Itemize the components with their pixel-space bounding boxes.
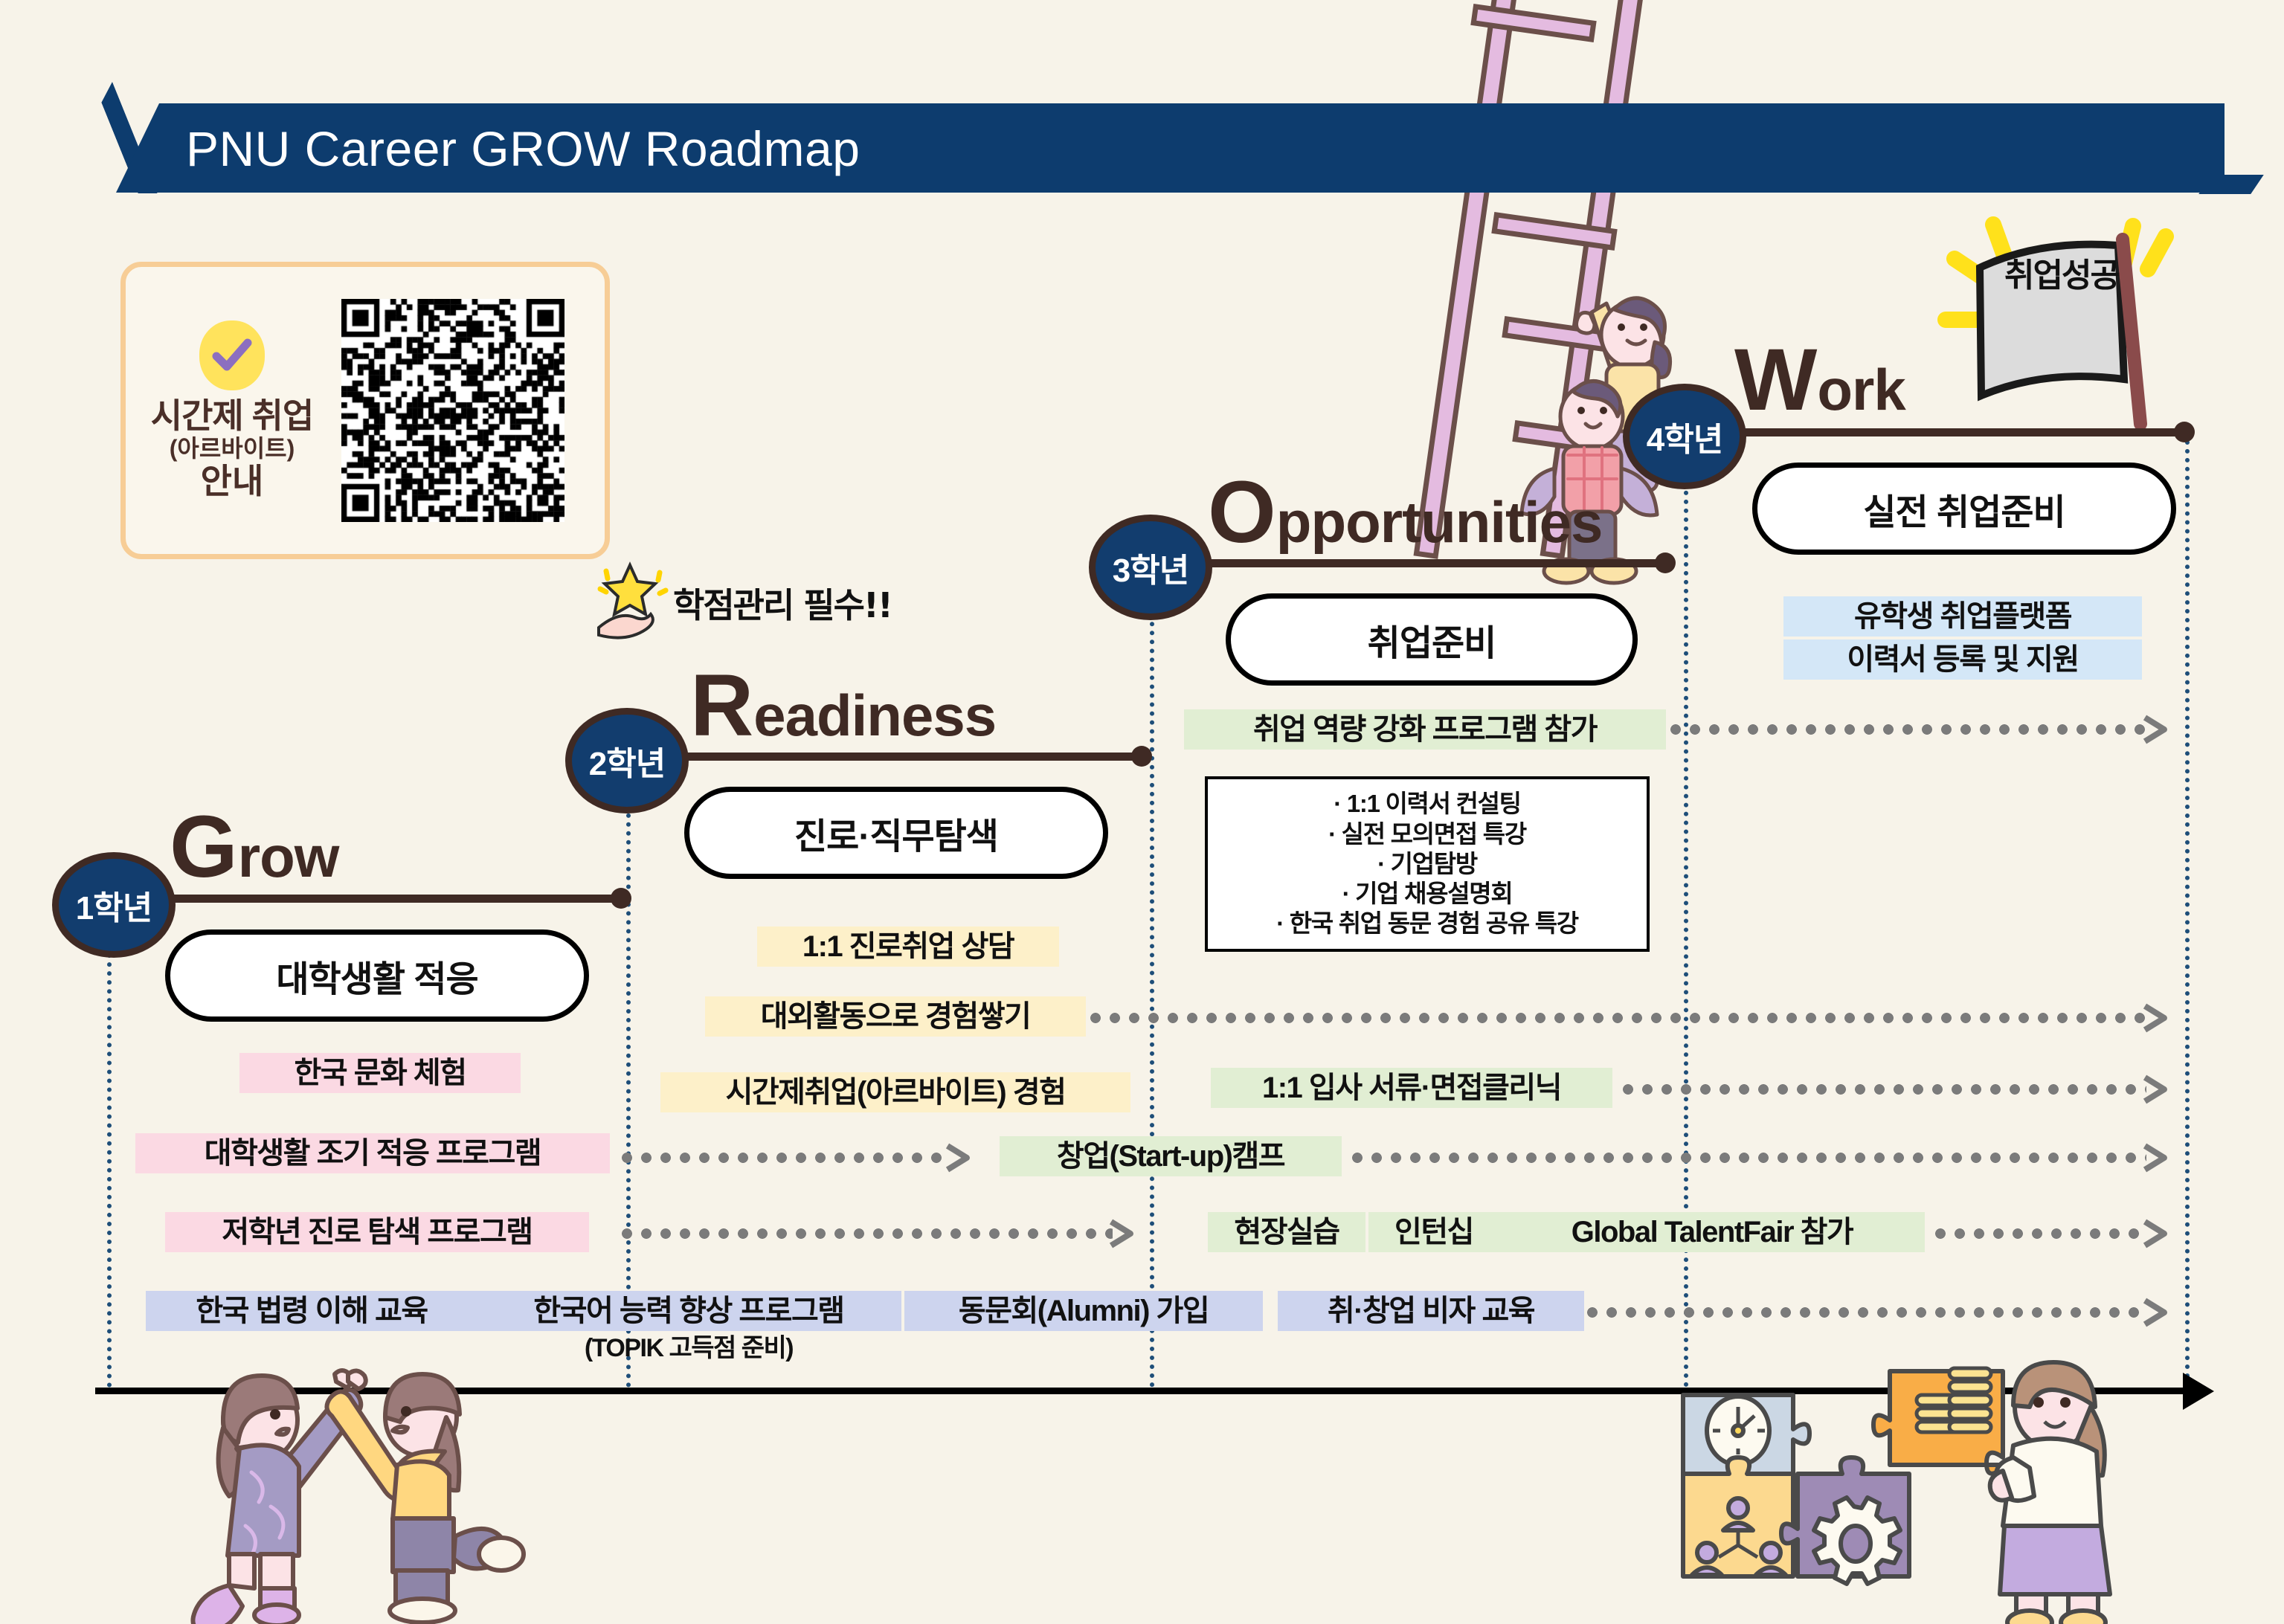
stage-letter-work: Work: [1734, 336, 1905, 424]
divider-stage-3: [1150, 559, 1154, 1388]
arrow-opp-row4: [1931, 1228, 2172, 1239]
detail-item-0: · 1:1 이력서 컨설팅: [1334, 789, 1520, 819]
stage-letter-readiness: Readiness: [690, 662, 996, 750]
grade-management-note: 학점관리 필수!!: [673, 579, 892, 628]
program-detail-box: · 1:1 이력서 컨설팅 · 실전 모의면접 특강 · 기업탐방 · 기업 채…: [1205, 776, 1650, 952]
chip-opp-2: 창업(Start-up)캠프: [1000, 1136, 1342, 1176]
chip-grow-0: 한국 문화 체험: [239, 1053, 521, 1093]
stage-rule-work: [1690, 428, 2188, 436]
arrow-grow-row3: [617, 1228, 1138, 1239]
qr-card-line3: 안내: [126, 463, 338, 500]
arrow-row-bottom: [1583, 1307, 2172, 1318]
qr-card-line1: 시간제 취업: [126, 398, 338, 434]
chip-opp-3: 현장실습: [1208, 1212, 1365, 1252]
chip-grow-3: 한국 법령 이해 교육: [146, 1291, 477, 1331]
chip-grow-1: 대학생활 조기 적응 프로그램: [135, 1133, 610, 1173]
chip-opp-5: Global TalentFair 참가: [1499, 1212, 1925, 1252]
qr-code[interactable]: [341, 299, 564, 522]
sparkle-hand-icon: [591, 559, 673, 641]
detail-item-4: · 한국 취업 동문 경험 공유 특강: [1276, 909, 1578, 938]
puzzle-illustration: [1677, 1361, 2190, 1621]
arrow-opp-row2: [1618, 1084, 2172, 1095]
chip-work-1: 이력서 등록 및 지원: [1783, 639, 2142, 680]
flag-label: 취업성공: [1987, 260, 2136, 291]
stage-badge-1[interactable]: 1학년: [52, 852, 176, 958]
chip-work-0: 유학생 취업플랫폼: [1783, 596, 2142, 637]
detail-item-3: · 기업 채용설명회: [1342, 879, 1513, 909]
chip-readiness-1: 대외활동으로 경험쌓기: [705, 996, 1086, 1037]
chip-readiness-topik: (TOPIK 고득점 준비): [491, 1331, 887, 1366]
check-icon: [199, 320, 265, 390]
divider-stage-1: [107, 927, 112, 1388]
arrow-opp-row3: [1348, 1153, 2172, 1163]
arrow-readiness-row1: [1086, 1013, 2172, 1023]
qr-card-text: 시간제 취업 (아르바이트) 안내: [126, 320, 338, 500]
chip-readiness-3: 한국어 능력 향상 프로그램: [476, 1291, 901, 1331]
highfive-illustration: [149, 1368, 535, 1621]
chip-readiness-0: 1:1 진로취업 상담: [757, 927, 1059, 967]
chip-opp-0: 취업 역량 강화 프로그램 참가: [1184, 709, 1666, 750]
stage-badge-3[interactable]: 3학년: [1089, 515, 1212, 620]
qr-card-line2: (아르바이트): [126, 434, 338, 463]
stage-pill-readiness: 진로·직무탐색: [684, 787, 1108, 879]
stage-letter-opportunities: Opportunities: [1208, 468, 1602, 556]
stage-pill-opportunities: 취업준비: [1226, 593, 1638, 686]
infographic-canvas: PNU Career GROW Roadmap: [0, 0, 2284, 1624]
divider-end: [2185, 431, 2190, 1388]
stage-letter-grow: Grow: [170, 803, 338, 891]
detail-item-2: · 기업탐방: [1377, 849, 1477, 879]
stage-badge-4[interactable]: 4학년: [1623, 384, 1746, 489]
detail-item-1: · 실전 모의면접 특강: [1328, 819, 1526, 849]
chip-grow-2: 저학년 진로 탐색 프로그램: [165, 1212, 589, 1252]
stage-badge-2[interactable]: 2학년: [565, 708, 689, 813]
part-time-job-qr-card[interactable]: 시간제 취업 (아르바이트) 안내: [120, 262, 610, 559]
chip-opp-4: 인턴십: [1368, 1212, 1499, 1252]
chip-opp-6: 동문회(Alumni) 가입: [904, 1291, 1263, 1331]
arrow-opp-row0: [1666, 724, 2172, 735]
arrow-grow-row2: [617, 1153, 974, 1163]
page-title: PNU Career GROW Roadmap: [186, 112, 860, 186]
stage-pill-grow: 대학생활 적응: [165, 929, 589, 1022]
chip-opp-7: 취·창업 비자 교육: [1278, 1291, 1584, 1331]
chip-opp-1: 1:1 입사 서류·면접클리닉: [1211, 1068, 1612, 1108]
chip-readiness-2: 시간제취업(아르바이트) 경험: [660, 1072, 1130, 1112]
success-flag-icon: [1934, 201, 2194, 446]
stage-pill-work: 실전 취업준비: [1752, 463, 2176, 555]
